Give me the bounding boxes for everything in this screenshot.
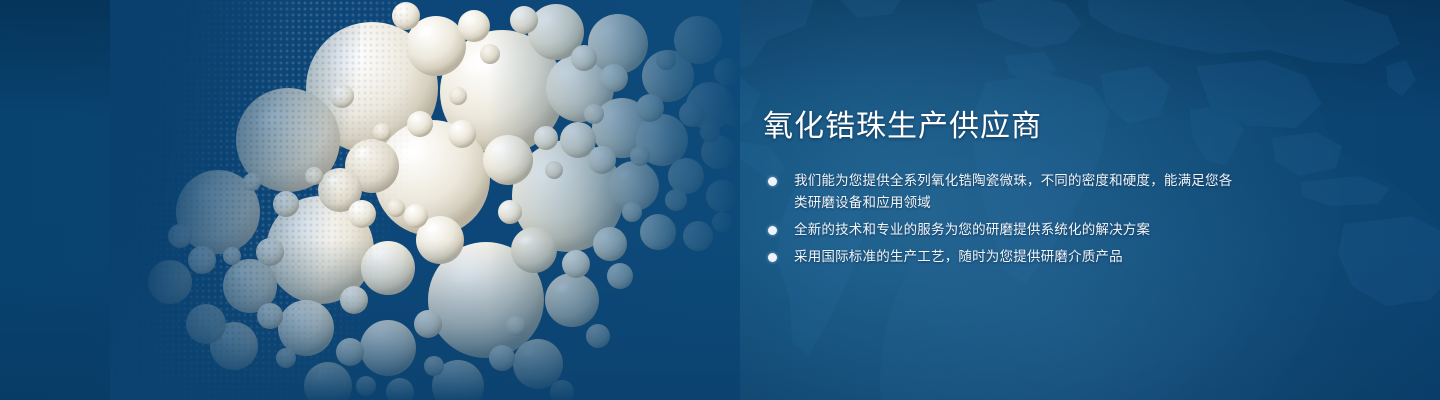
bullet-text-2: 全新的技术和专业的服务为您的研磨提供系统化的解决方案 — [794, 219, 1236, 241]
hero-banner: 氧化锆珠生产供应商 我们能为您提供全系列氧化锆陶瓷微珠，不同的密度和硬度，能满足… — [0, 0, 1440, 400]
bead-cluster — [110, 0, 740, 400]
bullet-dot-icon — [768, 253, 777, 262]
bullet-dot-icon — [768, 226, 777, 235]
bullet-text-3: 采用国际标准的生产工艺，随时为您提供研磨介质产品 — [794, 246, 1236, 268]
bullet-dot-icon — [768, 177, 777, 186]
banner-headline: 氧化锆珠生产供应商 — [763, 110, 1042, 145]
banner-content: 氧化锆珠生产供应商 我们能为您提供全系列氧化锆陶瓷微珠，不同的密度和硬度，能满足… — [763, 0, 1323, 400]
zirconia-beads-photo — [110, 0, 740, 400]
bullet-text-1: 我们能为您提供全系列氧化锆陶瓷微珠，不同的密度和硬度，能满足您各类研磨设备和应用… — [794, 170, 1236, 214]
bullet-item-1: 我们能为您提供全系列氧化锆陶瓷微珠，不同的密度和硬度，能满足您各类研磨设备和应用… — [766, 170, 1236, 214]
bullet-item-2: 全新的技术和专业的服务为您的研磨提供系统化的解决方案 — [766, 219, 1236, 241]
banner-bullet-list: 我们能为您提供全系列氧化锆陶瓷微珠，不同的密度和硬度，能满足您各类研磨设备和应用… — [766, 170, 1236, 273]
bullet-item-3: 采用国际标准的生产工艺，随时为您提供研磨介质产品 — [766, 246, 1236, 268]
